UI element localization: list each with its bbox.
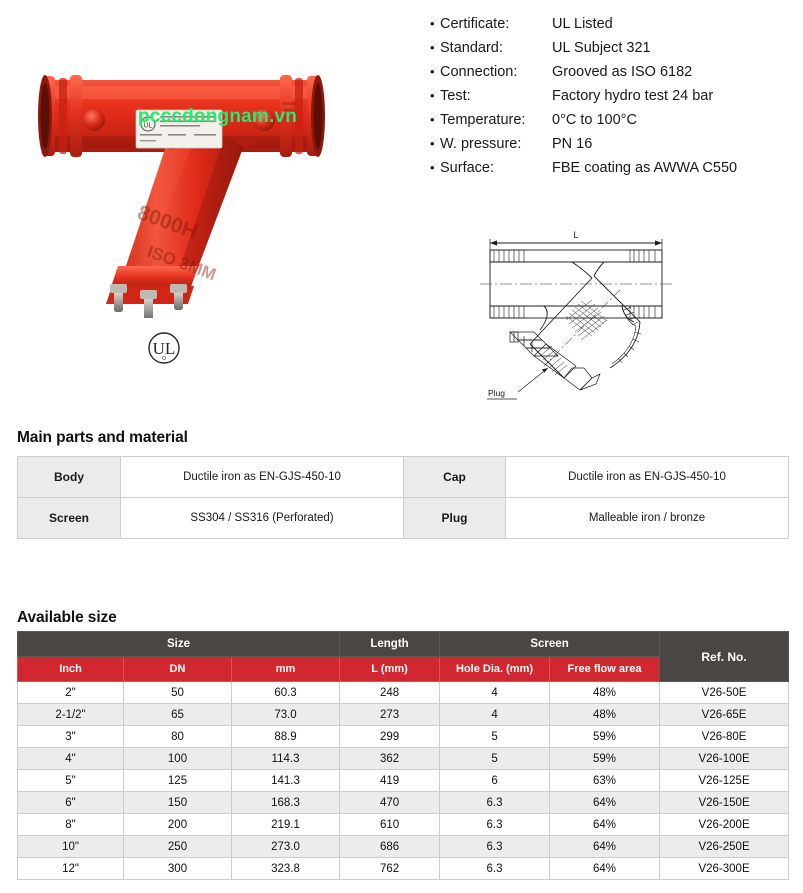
cell-flow: 64% — [550, 792, 660, 814]
table-row: 6" 150 168.3 470 6.3 64% V26-150E — [18, 792, 789, 814]
materials-section-heading: Main parts and material — [17, 429, 188, 447]
cell-hole: 6.3 — [440, 836, 550, 858]
header-group-size: Size — [18, 632, 340, 657]
cell-flow: 59% — [550, 748, 660, 770]
bullet-icon: • — [430, 89, 440, 102]
sizes-section-heading: Available size — [17, 609, 117, 627]
cell-flow: 64% — [550, 858, 660, 880]
cell-mm: 323.8 — [232, 858, 340, 880]
spec-label: Standard: — [440, 40, 552, 56]
cell-mm: 273.0 — [232, 836, 340, 858]
material-label-screen: Screen — [18, 498, 121, 539]
header-ref-no: Ref. No. — [660, 632, 789, 682]
table-row: 5" 125 141.3 419 6 63% V26-125E — [18, 770, 789, 792]
cell-hole: 4 — [440, 704, 550, 726]
spec-row-working-pressure: • W. pressure: PN 16 — [430, 136, 790, 160]
material-value-screen: SS304 / SS316 (Perforated) — [121, 498, 404, 539]
cell-inch: 8" — [18, 814, 124, 836]
cell-hole: 4 — [440, 682, 550, 704]
cell-ref: V26-50E — [660, 682, 789, 704]
y-strainer-illustration: UL 8000H ISO 3MM — [18, 28, 358, 318]
cell-inch: 6" — [18, 792, 124, 814]
header-inch: Inch — [18, 657, 124, 682]
table-row: Screen SS304 / SS316 (Perforated) Plug M… — [18, 498, 789, 539]
cell-length: 362 — [340, 748, 440, 770]
y-strainer-cross-section: L — [472, 226, 742, 406]
cell-ref: V26-200E — [660, 814, 789, 836]
spec-value: PN 16 — [552, 136, 790, 152]
cell-flow: 64% — [550, 836, 660, 858]
technical-drawing: L — [472, 226, 742, 406]
cell-hole: 6 — [440, 770, 550, 792]
header-mm: mm — [232, 657, 340, 682]
svg-text:UL: UL — [144, 123, 153, 130]
bullet-icon: • — [430, 113, 440, 126]
cell-inch: 2-1/2" — [18, 704, 124, 726]
table-row: 12" 300 323.8 762 6.3 64% V26-300E — [18, 858, 789, 880]
spec-value: Factory hydro test 24 bar — [552, 88, 790, 104]
cell-inch: 5" — [18, 770, 124, 792]
cell-dn: 65 — [124, 704, 232, 726]
cell-hole: 5 — [440, 748, 550, 770]
cell-ref: V26-300E — [660, 858, 789, 880]
material-value-plug: Malleable iron / bronze — [506, 498, 789, 539]
spec-value: UL Listed — [552, 16, 790, 32]
spec-value: FBE coating as AWWA C550 — [552, 160, 790, 176]
spec-label: Certificate: — [440, 16, 552, 32]
spec-row-certificate: • Certificate: UL Listed — [430, 16, 790, 40]
bullet-icon: • — [430, 161, 440, 174]
header-group-screen: Screen — [440, 632, 660, 657]
cell-dn: 200 — [124, 814, 232, 836]
spec-row-test: • Test: Factory hydro test 24 bar — [430, 88, 790, 112]
cell-dn: 300 — [124, 858, 232, 880]
cell-hole: 6.3 — [440, 814, 550, 836]
table-row: 2-1/2" 65 73.0 273 4 48% V26-65E — [18, 704, 789, 726]
table-row: Body Ductile iron as EN-GJS-450-10 Cap D… — [18, 457, 789, 498]
header-free-flow-area: Free flow area — [550, 657, 660, 682]
header-group-length: Length — [340, 632, 440, 657]
cell-ref: V26-100E — [660, 748, 789, 770]
material-label-plug: Plug — [404, 498, 506, 539]
cell-dn: 50 — [124, 682, 232, 704]
cell-mm: 141.3 — [232, 770, 340, 792]
cell-mm: 73.0 — [232, 704, 340, 726]
ul-certification-mark: UL — [142, 327, 186, 371]
cell-hole: 6.3 — [440, 858, 550, 880]
product-photo: UL 8000H ISO 3MM pcccdongnam.vn — [18, 28, 358, 318]
cell-dn: 250 — [124, 836, 232, 858]
cell-mm: 219.1 — [232, 814, 340, 836]
cell-length: 299 — [340, 726, 440, 748]
spec-label: Connection: — [440, 64, 552, 80]
spec-label: Surface: — [440, 160, 552, 176]
cell-dn: 80 — [124, 726, 232, 748]
cell-mm: 88.9 — [232, 726, 340, 748]
product-nameplate: UL — [136, 110, 222, 148]
cell-ref: V26-125E — [660, 770, 789, 792]
dimension-label-L: L — [573, 230, 578, 240]
cell-length: 248 — [340, 682, 440, 704]
cell-length: 610 — [340, 814, 440, 836]
header-dn: DN — [124, 657, 232, 682]
material-value-cap: Ductile iron as EN-GJS-450-10 — [506, 457, 789, 498]
cell-mm: 168.3 — [232, 792, 340, 814]
cell-ref: V26-250E — [660, 836, 789, 858]
cell-ref: V26-150E — [660, 792, 789, 814]
cell-flow: 48% — [550, 704, 660, 726]
cell-length: 273 — [340, 704, 440, 726]
table-row: 10" 250 273.0 686 6.3 64% V26-250E — [18, 836, 789, 858]
plug-callout-label: Plug — [488, 388, 505, 398]
cell-flow: 64% — [550, 814, 660, 836]
spec-value: 0°C to 100°C — [552, 112, 790, 128]
spec-label: Test: — [440, 88, 552, 104]
bullet-icon: • — [430, 17, 440, 30]
cell-inch: 2" — [18, 682, 124, 704]
cell-ref: V26-80E — [660, 726, 789, 748]
cell-dn: 125 — [124, 770, 232, 792]
cell-flow: 59% — [550, 726, 660, 748]
header-hole-dia: Hole Dia. (mm) — [440, 657, 550, 682]
table-row: 3" 80 88.9 299 5 59% V26-80E — [18, 726, 789, 748]
spec-row-connection: • Connection: Grooved as ISO 6182 — [430, 64, 790, 88]
cell-dn: 100 — [124, 748, 232, 770]
cell-length: 419 — [340, 770, 440, 792]
spec-row-standard: • Standard: UL Subject 321 — [430, 40, 790, 64]
spec-label: W. pressure: — [440, 136, 552, 152]
cell-inch: 10" — [18, 836, 124, 858]
material-value-body: Ductile iron as EN-GJS-450-10 — [121, 457, 404, 498]
spec-value: Grooved as ISO 6182 — [552, 64, 790, 80]
spec-label: Temperature: — [440, 112, 552, 128]
table-header-group-row: Size Length Screen Ref. No. — [18, 632, 789, 657]
cell-dn: 150 — [124, 792, 232, 814]
spec-value: UL Subject 321 — [552, 40, 790, 56]
available-size-table: Size Length Screen Ref. No. Inch DN mm L… — [17, 631, 789, 880]
spec-row-temperature: • Temperature: 0°C to 100°C — [430, 112, 790, 136]
cell-inch: 4" — [18, 748, 124, 770]
cell-mm: 60.3 — [232, 682, 340, 704]
table-row: 2" 50 60.3 248 4 48% V26-50E — [18, 682, 789, 704]
material-label-body: Body — [18, 457, 121, 498]
table-row: 4" 100 114.3 362 5 59% V26-100E — [18, 748, 789, 770]
cell-length: 686 — [340, 836, 440, 858]
header-length-mm: L (mm) — [340, 657, 440, 682]
specifications-list: • Certificate: UL Listed • Standard: UL … — [430, 16, 790, 184]
cell-hole: 6.3 — [440, 792, 550, 814]
cell-inch: 12" — [18, 858, 124, 880]
cell-flow: 63% — [550, 770, 660, 792]
bullet-icon: • — [430, 137, 440, 150]
svg-text:UL: UL — [153, 339, 176, 358]
cell-ref: V26-65E — [660, 704, 789, 726]
bullet-icon: • — [430, 41, 440, 54]
materials-table: Body Ductile iron as EN-GJS-450-10 Cap D… — [17, 456, 789, 539]
cell-length: 762 — [340, 858, 440, 880]
table-row: 8" 200 219.1 610 6.3 64% V26-200E — [18, 814, 789, 836]
cell-length: 470 — [340, 792, 440, 814]
cell-flow: 48% — [550, 682, 660, 704]
cell-mm: 114.3 — [232, 748, 340, 770]
top-section: UL 8000H ISO 3MM pcccdongnam.vn — [0, 0, 803, 415]
cell-hole: 5 — [440, 726, 550, 748]
bullet-icon: • — [430, 65, 440, 78]
cell-inch: 3" — [18, 726, 124, 748]
spec-row-surface: • Surface: FBE coating as AWWA C550 — [430, 160, 790, 184]
material-label-cap: Cap — [404, 457, 506, 498]
